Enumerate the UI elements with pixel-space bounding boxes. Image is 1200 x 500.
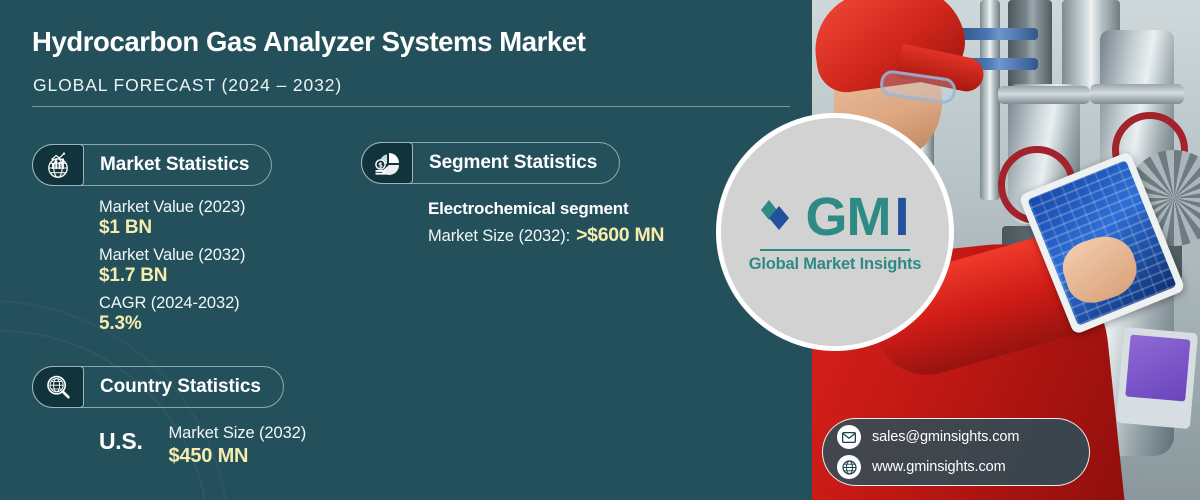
segment-name: Electrochemical segment	[428, 199, 664, 219]
market-value-2032-label: Market Value (2032)	[99, 246, 245, 265]
market-value-2032-value: $1.7 BN	[99, 265, 245, 287]
market-statistics-label: Market Statistics	[100, 154, 249, 176]
cagr-label: CAGR (2024-2032)	[99, 294, 245, 313]
globe-magnifier-icon	[32, 366, 84, 408]
globe-icon	[837, 455, 861, 479]
left-content-panel: Hydrocarbon Gas Analyzer Systems Market …	[0, 0, 812, 500]
gmi-logo-rule	[760, 249, 910, 251]
country-statistics-header[interactable]: Country Statistics	[32, 366, 284, 408]
market-value-2023-label: Market Value (2023)	[99, 198, 245, 217]
gmi-logo-badge: GM I Global Market Insights	[716, 113, 954, 351]
contact-email: sales@gminsights.com	[872, 429, 1019, 445]
segment-size-value: >$600 MN	[576, 224, 664, 247]
pie-chart-dollar-icon: $	[361, 142, 413, 184]
country-size-value: $450 MN	[169, 445, 307, 468]
market-statistics-values: Market Value (2023) $1 BN Market Value (…	[99, 198, 245, 335]
segment-statistics-label: Segment Statistics	[429, 152, 597, 174]
country-size-label: Market Size (2032)	[169, 424, 307, 443]
page-subtitle: GLOBAL FORECAST (2024 – 2032)	[33, 75, 342, 96]
gmi-diamond-mark	[761, 190, 801, 244]
header-divider	[32, 106, 790, 107]
segment-size-row: Market Size (2032): >$600 MN	[428, 224, 664, 247]
page-title: Hydrocarbon Gas Analyzer Systems Market	[32, 26, 585, 58]
country-statistics-values: U.S. Market Size (2032) $450 MN	[99, 424, 306, 468]
cagr-value: 5.3%	[99, 313, 245, 335]
market-report-banner: Hydrocarbon Gas Analyzer Systems Market …	[0, 0, 1200, 500]
gmi-letter-i: I	[894, 190, 908, 244]
market-statistics-header[interactable]: Market Statistics	[32, 144, 272, 186]
globe-bar-chart-icon	[32, 144, 84, 186]
country-size-block: Market Size (2032) $450 MN	[169, 424, 307, 468]
country-name: U.S.	[99, 428, 143, 455]
plant-monitor	[1116, 327, 1198, 429]
country-statistics-label: Country Statistics	[100, 376, 261, 398]
gmi-letters-gm: GM	[805, 190, 890, 244]
segment-statistics-header[interactable]: $ Segment Statistics	[361, 142, 620, 184]
svg-text:$: $	[378, 161, 383, 169]
contact-website: www.gminsights.com	[872, 459, 1006, 475]
gmi-tagline: Global Market Insights	[749, 255, 922, 274]
envelope-icon	[837, 425, 861, 449]
market-value-2023-value: $1 BN	[99, 217, 245, 239]
contact-info-panel: sales@gminsights.com www.gminsights.com	[822, 418, 1090, 486]
segment-statistics-values: Electrochemical segment Market Size (203…	[428, 199, 664, 247]
segment-size-label: Market Size (2032):	[428, 227, 570, 246]
contact-website-row[interactable]: www.gminsights.com	[837, 455, 1089, 479]
contact-email-row[interactable]: sales@gminsights.com	[837, 425, 1089, 449]
